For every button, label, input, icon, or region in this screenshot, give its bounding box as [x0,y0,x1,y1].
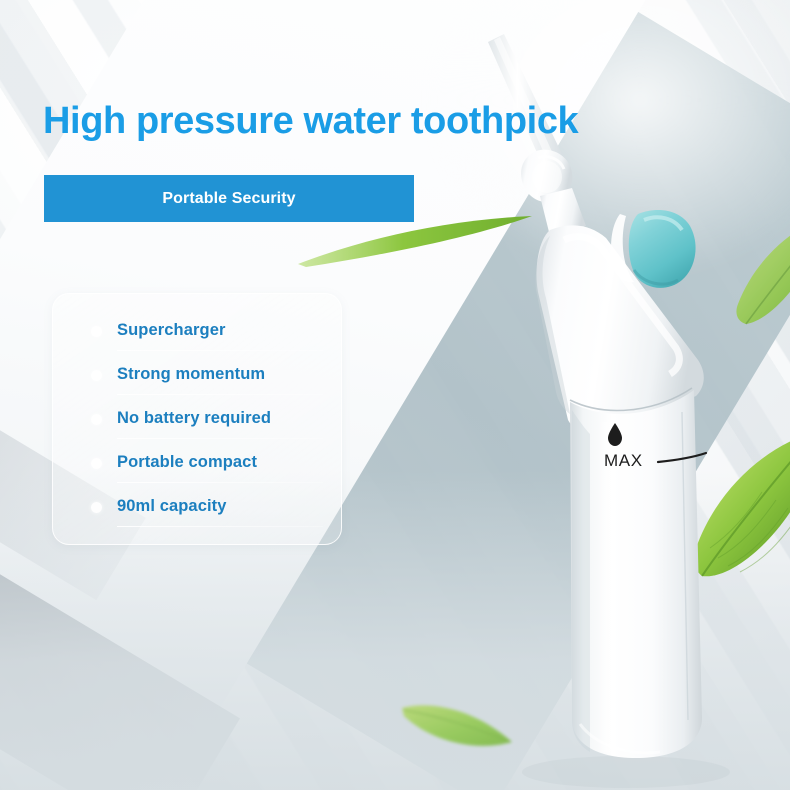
feature-divider [117,482,323,483]
bullet-icon [91,414,102,425]
bullet-icon [91,326,102,337]
bullet-icon [91,370,102,381]
product-poster: MAX High pressure water toothpick Portab… [0,0,790,790]
feature-item-portable-compact: Portable compact [87,440,319,484]
feature-item-no-battery-required: No battery required [87,396,319,440]
feature-list-card: Supercharger Strong momentum No battery … [52,293,342,545]
feature-divider [117,394,323,395]
feature-divider [117,350,323,351]
feature-item-strong-momentum: Strong momentum [87,352,319,396]
svg-text:MAX: MAX [604,451,643,470]
feature-item-supercharger: Supercharger [87,308,319,352]
bullet-icon [91,458,102,469]
sub-banner-label: Portable Security [162,190,295,208]
feature-label: 90ml capacity [117,497,227,516]
feature-item-90ml-capacity: 90ml capacity [87,484,319,528]
feature-divider [117,526,323,527]
sub-banner: Portable Security [44,175,414,222]
feature-label: No battery required [117,409,271,428]
feature-label: Supercharger [117,321,226,340]
bullet-icon [91,502,102,513]
page-title: High pressure water toothpick [43,100,578,143]
product-image-water-flosser: MAX [430,30,790,790]
feature-divider [117,438,323,439]
feature-label: Portable compact [117,453,257,472]
feature-label: Strong momentum [117,365,265,384]
